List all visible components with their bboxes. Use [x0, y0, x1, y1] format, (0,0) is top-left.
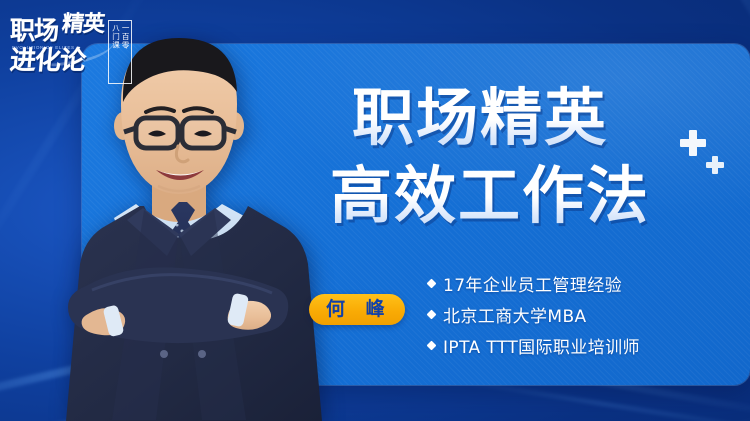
logo-line2: 进化论 — [9, 48, 86, 74]
headline-block: 职场精英 高效工作法 — [352, 82, 650, 232]
plus-mark-icon — [706, 156, 724, 174]
credential-text: 17年企业员工管理经验 — [443, 271, 622, 296]
headline-line-1: 职场精英 — [352, 82, 650, 154]
logo-line1-main: 职场 — [10, 18, 58, 43]
plus-mark-icon — [680, 130, 706, 156]
badge-column-right: 一百零 — [121, 24, 130, 50]
diamond-bullet-icon — [427, 341, 437, 351]
diamond-bullet-icon — [427, 279, 437, 289]
logo-line1-accent: 精英 — [61, 14, 105, 36]
promo-banner: 职场 精英 EVOLUTION OF ELITES 进化论 一百零 八门课 — [0, 0, 750, 421]
badge-column-left: 八门课 — [111, 24, 120, 50]
credential-text: IPTA TTT国际职业培训师 — [443, 333, 640, 358]
credential-list: 17年企业员工管理经验 北京工商大学MBA IPTA TTT国际职业培训师 — [428, 268, 640, 361]
headline-line-2: 高效工作法 — [330, 160, 650, 232]
logo-course-count-badge: 一百零 八门课 — [108, 20, 132, 84]
credential-item: 17年企业员工管理经验 — [428, 268, 640, 299]
speaker-name-badge: 何 峰 — [309, 294, 405, 325]
credential-item: IPTA TTT国际职业培训师 — [428, 330, 640, 361]
brand-logo: 职场 精英 EVOLUTION OF ELITES 进化论 一百零 八门课 — [8, 12, 130, 80]
credential-item: 北京工商大学MBA — [428, 299, 640, 330]
diamond-bullet-icon — [427, 310, 437, 320]
credential-text: 北京工商大学MBA — [443, 302, 587, 327]
